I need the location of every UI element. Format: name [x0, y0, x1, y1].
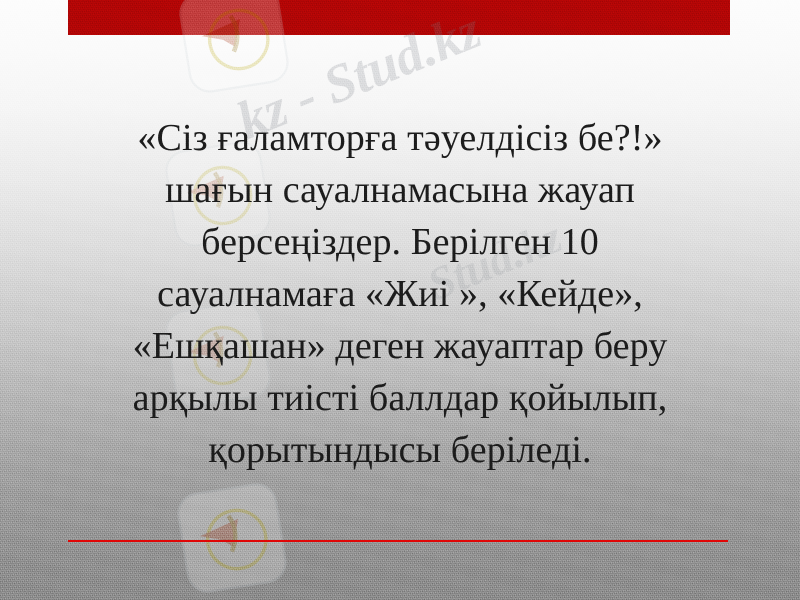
- body-line: берсеңіздер. Берілген 10: [68, 216, 732, 268]
- body-line: арқылы тиісті баллдар қойылып,: [68, 372, 732, 424]
- slide-body-text: «Сіз ғаламторға тәуелдісіз бе?!» шағын с…: [68, 112, 732, 476]
- slide-canvas: kz - Stud.kz Stud.kz «Сіз ғаламторға тәу…: [0, 0, 800, 600]
- body-line: қорытындысы беріледі.: [68, 424, 732, 476]
- body-line: шағын сауалнамасына жауап: [68, 164, 732, 216]
- body-line: «Сіз ғаламторға тәуелдісіз бе?!»: [68, 112, 732, 164]
- body-line: «Ешқашан» деген жауаптар беру: [68, 320, 732, 372]
- stud-kz-logo-watermark-icon: [168, 474, 296, 600]
- bottom-red-rule: [68, 540, 728, 542]
- top-red-banner: [68, 0, 730, 35]
- body-line: сауалнамаға «Жиі », «Кейде»,: [68, 268, 732, 320]
